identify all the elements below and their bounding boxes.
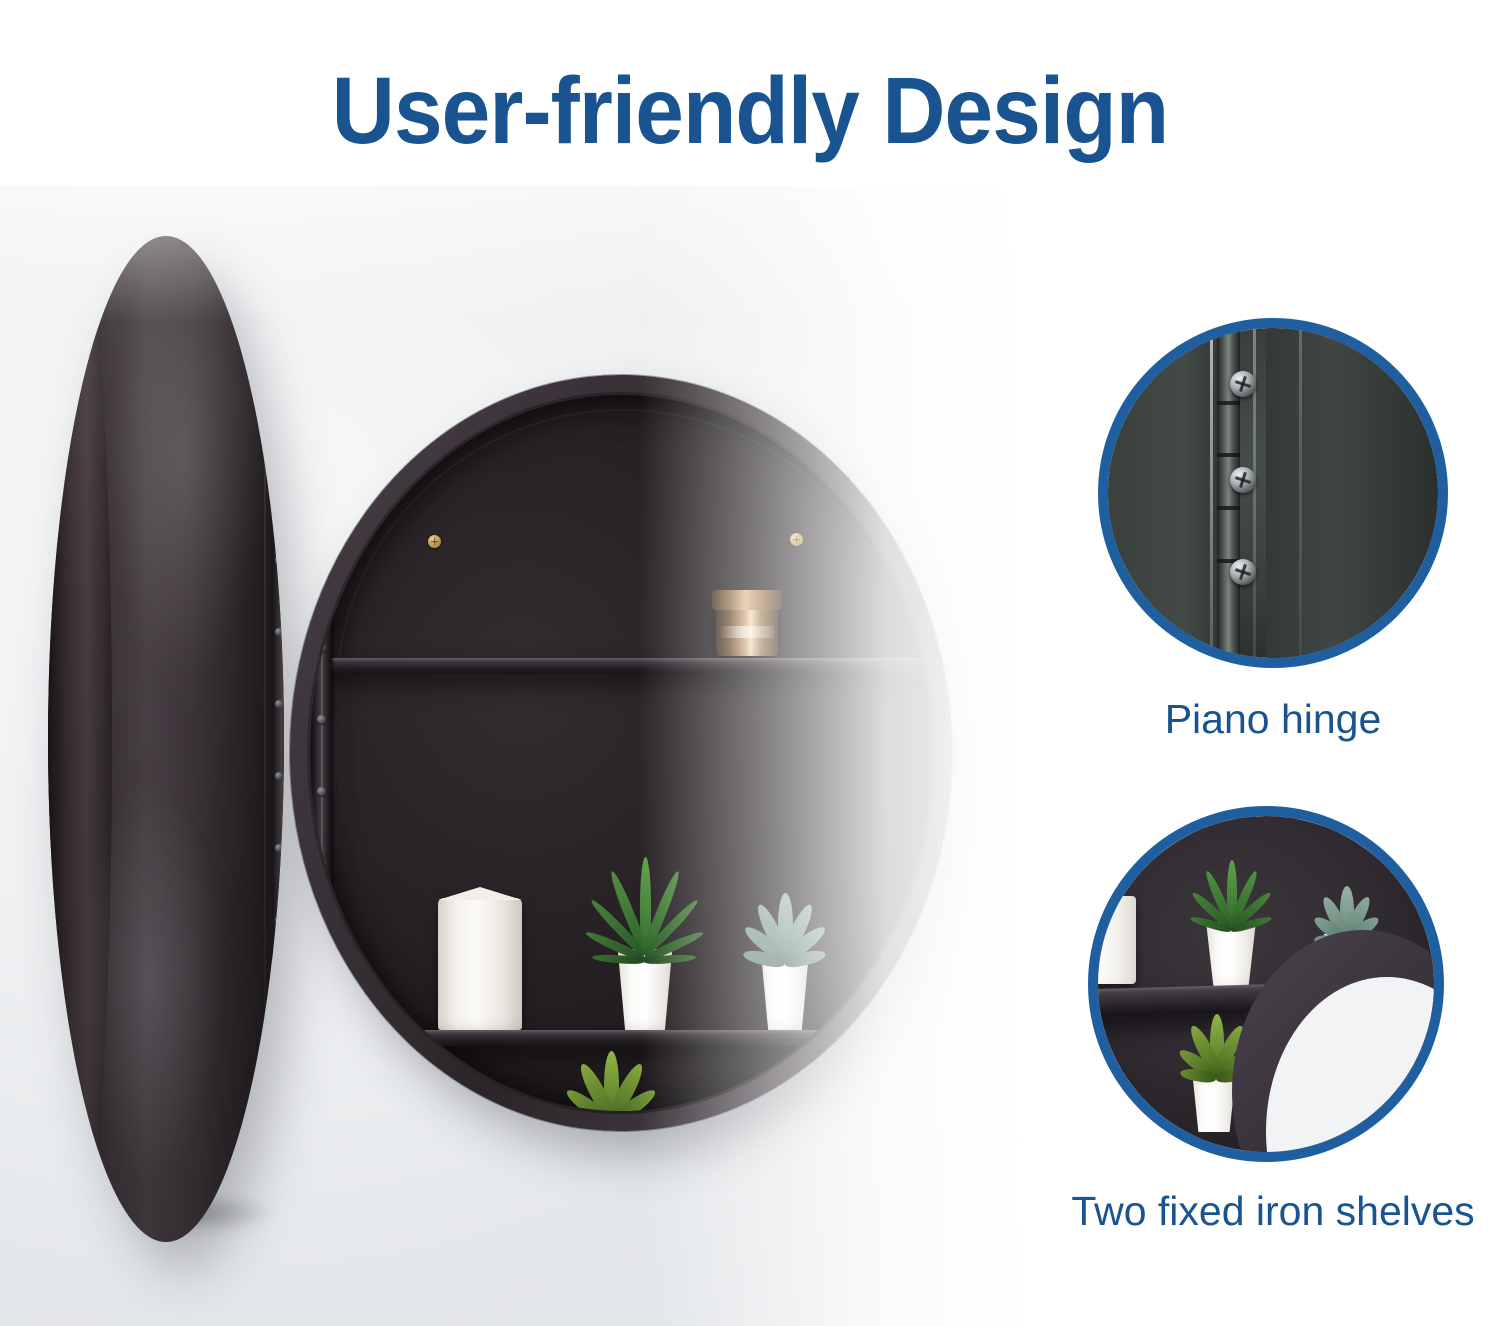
callout-two-fixed-iron-shelves: Two fixed iron shelves (1066, 806, 1480, 1246)
hinge-screw (317, 859, 326, 868)
panel-edge-highlight (1210, 328, 1213, 658)
plant-pot (758, 961, 812, 1031)
callout-label-piano-hinge: Piano hinge (1098, 696, 1448, 743)
mirror-door (48, 236, 284, 1242)
aloe-succulent (592, 853, 696, 1031)
copper-jar (716, 600, 778, 656)
door-panel-left (1108, 328, 1233, 658)
callout-label-two-fixed-iron-shelves: Two fixed iron shelves (1066, 1188, 1480, 1235)
jar-lid (712, 590, 782, 610)
hinge-pin (321, 555, 323, 1075)
hinge-knuckle (1217, 506, 1240, 510)
backer-panel (335, 409, 911, 697)
door-hinge-strip (272, 536, 284, 1056)
aloe-succulent (1186, 860, 1276, 988)
page-title: User-friendly Design (60, 62, 1440, 162)
hinge-screw (275, 556, 283, 564)
pillar-candle (438, 898, 522, 1030)
cabinet-body (290, 375, 952, 1131)
door-seam (264, 256, 266, 1222)
hinge-screw (317, 715, 326, 724)
piano-hinge (312, 555, 332, 1075)
hinge-screw (1230, 371, 1256, 397)
hinge-screw (317, 1003, 326, 1012)
hinge-screw (275, 628, 283, 636)
plant-pot (1202, 922, 1260, 988)
door-sheen (48, 236, 284, 1242)
hinge-screw (275, 988, 283, 996)
hinge-screw (275, 916, 283, 924)
cabinet-interior (310, 395, 932, 1111)
callout-ring (1098, 318, 1448, 668)
panel-edge-highlight (1299, 328, 1302, 658)
shelf-top (310, 658, 932, 674)
hinge-knuckle (1217, 453, 1240, 457)
hinge-screw (317, 931, 326, 940)
hinge-screw (275, 772, 283, 780)
jar-label-band (720, 626, 774, 638)
product-photo (0, 186, 1030, 1326)
mounting-screw (428, 535, 441, 548)
hinge-screw (1230, 559, 1256, 585)
callout-image-piano-hinge (1108, 328, 1438, 658)
shelf-lip (310, 658, 932, 662)
shelves-macro-photo (1098, 816, 1434, 1152)
mounting-screw (790, 533, 803, 546)
hinge-screw (317, 571, 326, 580)
hinge-macro-photo (1108, 328, 1438, 658)
callout-piano-hinge: Piano hinge (1098, 318, 1448, 748)
hinge-screw (317, 787, 326, 796)
callout-image-shelves (1098, 816, 1434, 1152)
pillar-candle (1098, 896, 1136, 984)
poster-canvas: User-friendly Design (0, 0, 1500, 1326)
green-succulent (562, 1043, 658, 1111)
hinge-screw (275, 844, 283, 852)
cabinet-panel-right (1266, 328, 1438, 658)
callout-ring (1088, 806, 1444, 1162)
echeveria-succulent (738, 887, 830, 1031)
hinge-screw (317, 643, 326, 652)
hinge-screw (1230, 467, 1256, 493)
shelf-lip (310, 1030, 932, 1034)
hinge-screw (275, 700, 283, 708)
hinge-knuckle (1217, 401, 1240, 405)
